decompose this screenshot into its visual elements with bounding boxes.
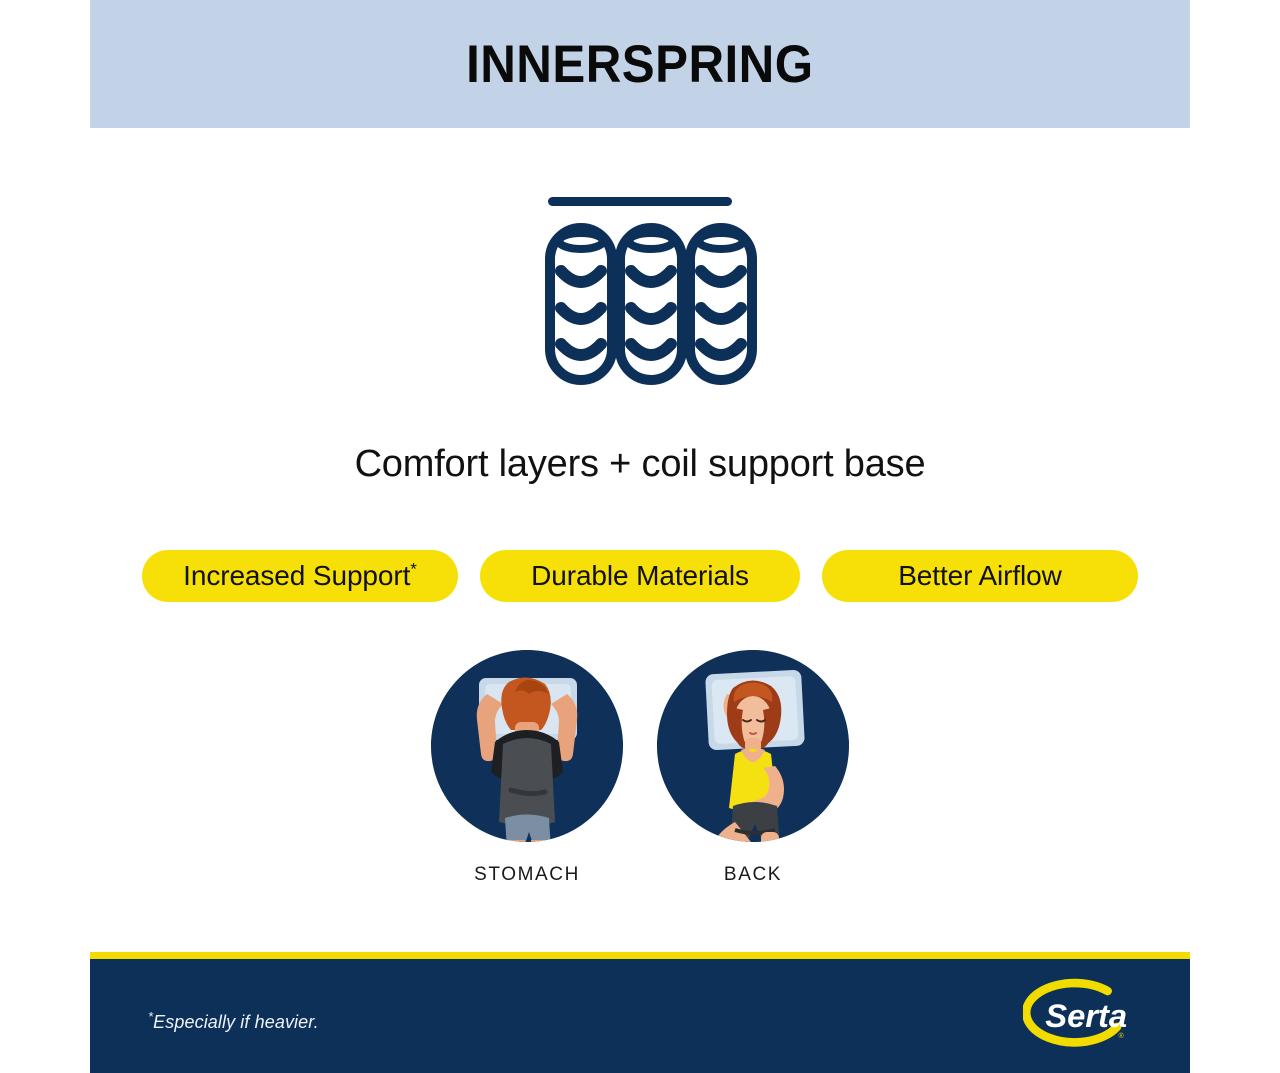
benefit-pill-better-airflow[interactable]: Better Airflow — [822, 550, 1138, 602]
header-band: INNERSPRING — [90, 0, 1190, 128]
benefit-pill-row: Increased Support* Durable Materials Bet… — [142, 550, 1138, 602]
sleep-position-label-back: BACK — [724, 864, 782, 886]
sleep-position-label-stomach: STOMACH — [474, 864, 580, 886]
page-title: INNERSPRING — [466, 38, 813, 91]
sleep-position-back: BACK — [655, 650, 851, 886]
subtitle: Comfort layers + coil support base — [90, 443, 1190, 486]
benefit-pill-durable-materials[interactable]: Durable Materials — [480, 550, 800, 602]
coil-icon-container — [90, 185, 1190, 400]
stomach-sleeper-illustration — [431, 650, 623, 842]
footer: *Especially if heavier. Serta ® — [90, 959, 1190, 1073]
registered-mark: ® — [1119, 1032, 1125, 1040]
serta-logo[interactable]: Serta ® — [1023, 977, 1133, 1055]
serta-wordmark: Serta — [1045, 997, 1127, 1034]
benefit-pill-increased-support[interactable]: Increased Support* — [142, 550, 458, 602]
footer-accent-rule — [90, 952, 1190, 959]
sleep-positions-row: STOMACH — [90, 650, 1190, 886]
coil-spring-icon — [520, 185, 760, 400]
infographic-card: INNERSPRING — [90, 0, 1190, 1073]
footnote: *Especially if heavier. — [148, 1012, 319, 1033]
back-sleeper-illustration — [657, 650, 849, 842]
benefit-pill-label: Increased Support* — [183, 560, 417, 592]
sleep-position-stomach: STOMACH — [429, 650, 625, 886]
benefit-pill-label: Better Airflow — [898, 560, 1062, 592]
benefit-pill-label: Durable Materials — [531, 560, 749, 592]
